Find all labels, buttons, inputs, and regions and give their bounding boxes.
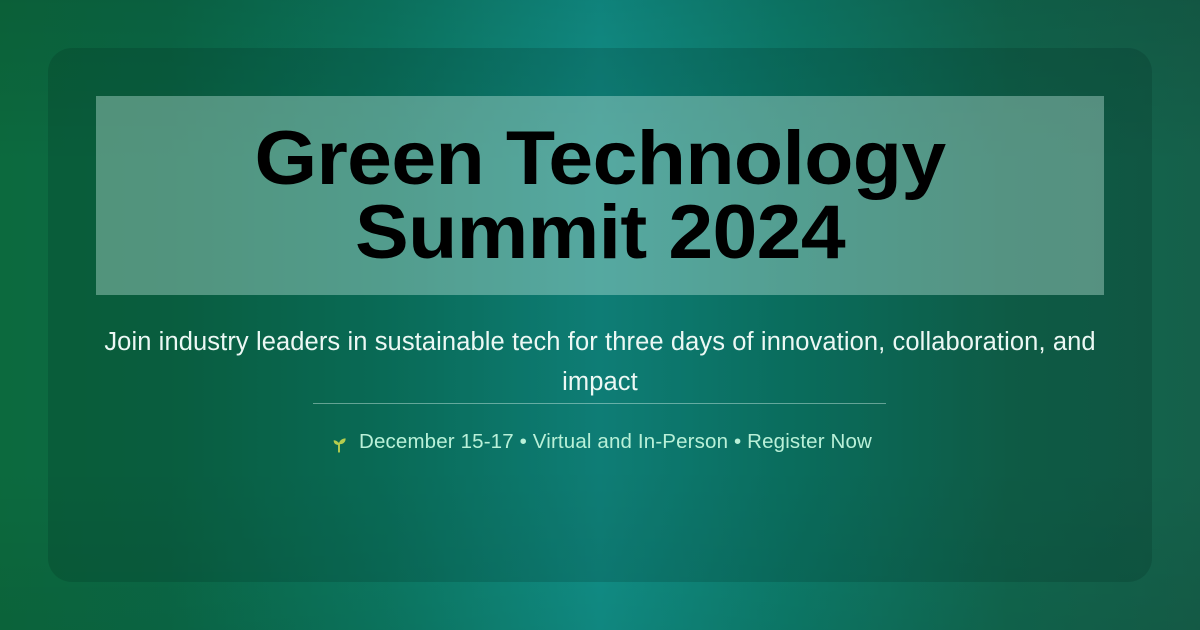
event-meta-text: December 15-17 • Virtual and In-Person •… [359,430,872,454]
title-band: Green Technology Summit 2024 [96,96,1104,295]
divider [313,403,886,404]
subtitle-text: Join industry leaders in sustainable tec… [96,322,1104,402]
page-title: Green Technology Summit 2024 [233,122,967,269]
event-meta-line: December 15-17 • Virtual and In-Person •… [96,430,1104,454]
content-card: Green Technology Summit 2024 Join indust… [48,48,1152,582]
sprout-icon [328,432,350,454]
promo-banner: Green Technology Summit 2024 Join indust… [0,0,1200,630]
